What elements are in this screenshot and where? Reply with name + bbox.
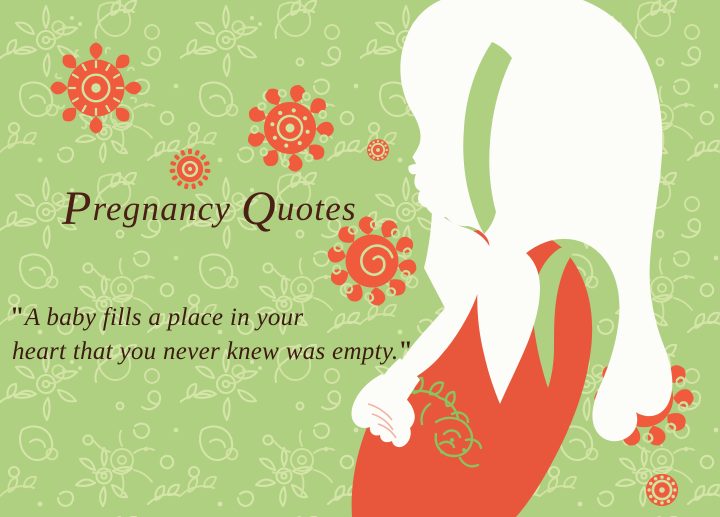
pregnant-woman-silhouette (0, 0, 720, 517)
pregnancy-quote-poster: Pregnancy Quotes "A baby fills a place i… (0, 0, 720, 517)
